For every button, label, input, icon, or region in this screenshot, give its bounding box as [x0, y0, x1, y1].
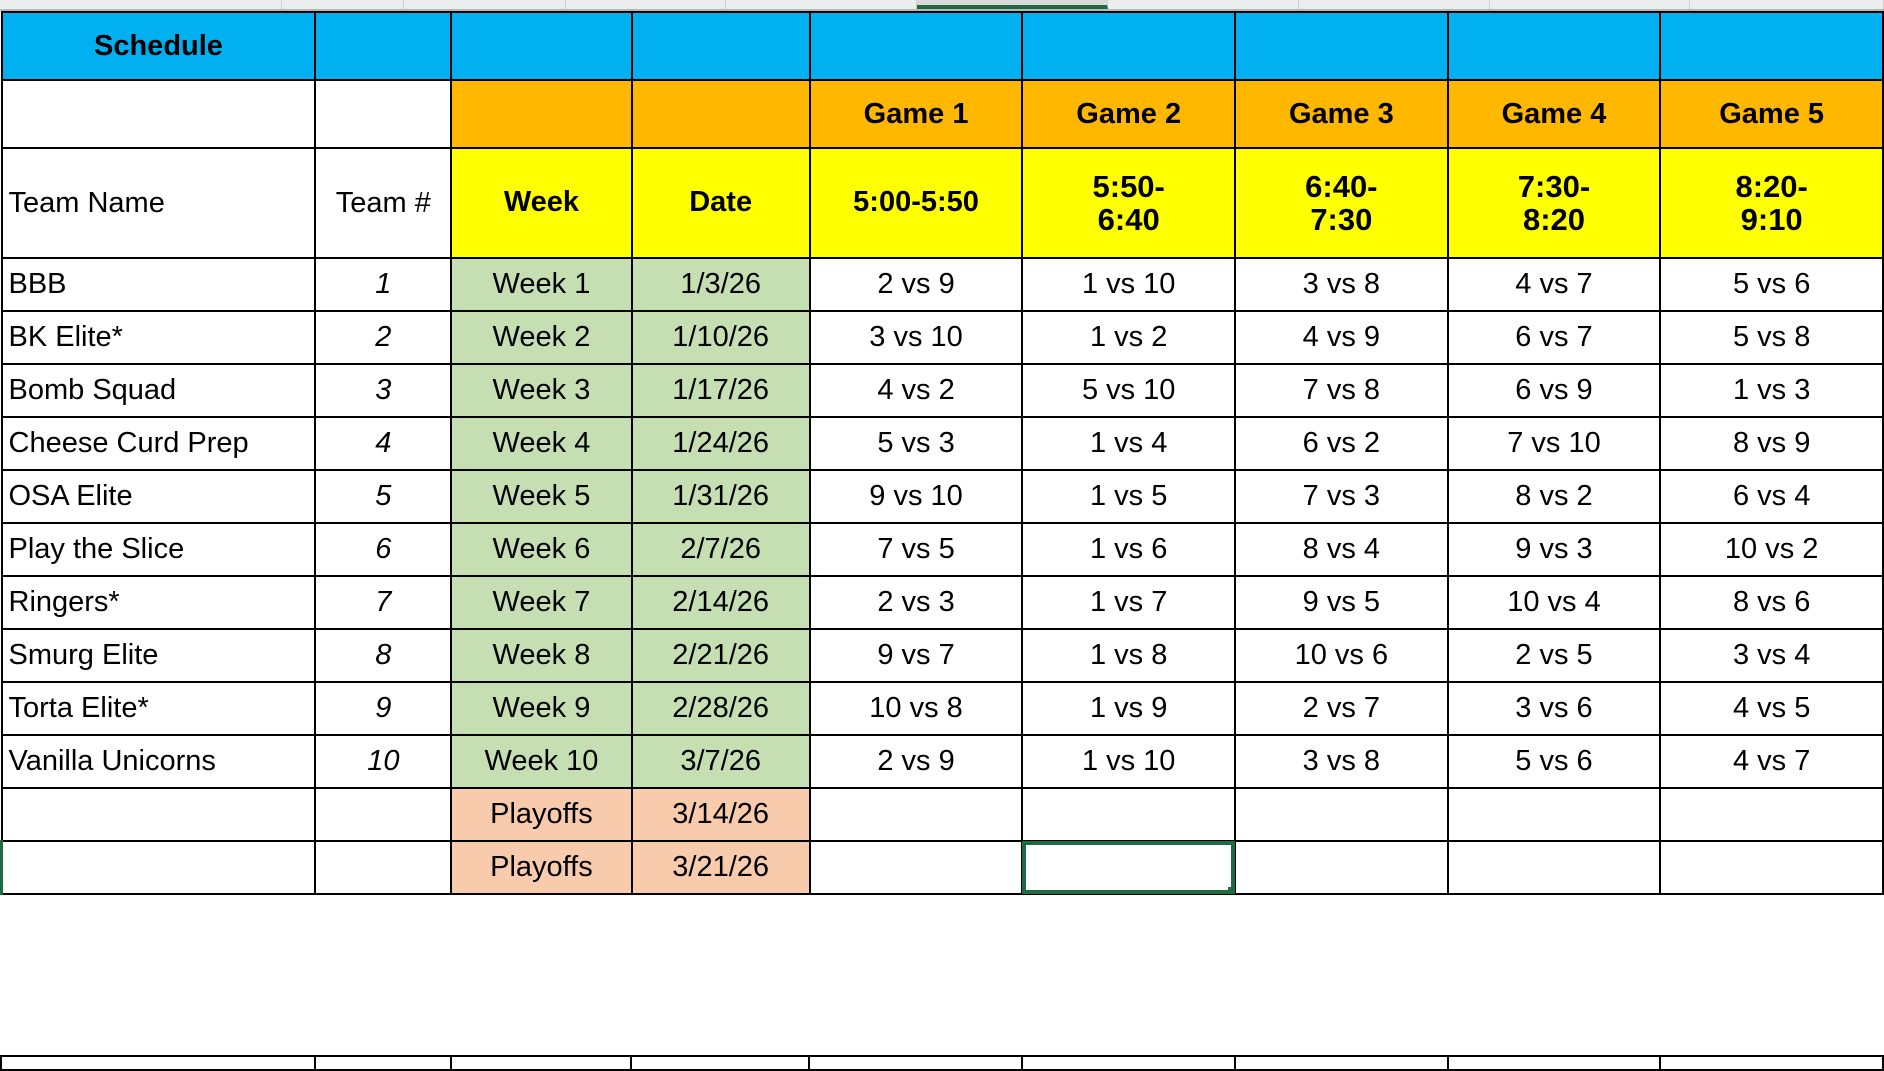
schedule-table: Schedule Game 1 Game 2 Game 3 Game 4	[0, 11, 1884, 895]
cell-matchup-game-2[interactable]: 1 vs 7	[1022, 576, 1235, 629]
cell-matchup-game-5[interactable]: 8 vs 6	[1660, 576, 1883, 629]
time-game-5-line2: 9:10	[1667, 203, 1876, 236]
game-label-blank-team-number	[315, 80, 451, 148]
game-label-5: Game 5	[1660, 80, 1883, 148]
cell-team-name[interactable]: Cheese Curd Prep	[2, 417, 316, 470]
cell-matchup-game-4[interactable]: 2 vs 5	[1448, 629, 1661, 682]
cell-playoff-week[interactable]: Playoffs	[451, 788, 631, 841]
cell-matchup-game-4[interactable]: 3 vs 6	[1448, 682, 1661, 735]
cell-team-number[interactable]	[315, 788, 451, 841]
cell-matchup-game-3[interactable]: 6 vs 2	[1235, 417, 1448, 470]
cell-matchup-game-4[interactable]: 4 vs 7	[1448, 258, 1661, 311]
cell-matchup-game-5[interactable]: 1 vs 3	[1660, 364, 1883, 417]
header-time-game-1: 5:00-5:50	[810, 148, 1023, 258]
cell-matchup-game-2[interactable]: 1 vs 10	[1022, 735, 1235, 788]
cell-team-number[interactable]: 9	[315, 682, 451, 735]
title-filler-game-5	[1660, 12, 1883, 80]
cell-matchup-game-4[interactable]: 5 vs 6	[1448, 735, 1661, 788]
cell-matchup-game-1[interactable]: 3 vs 10	[810, 311, 1023, 364]
cell-matchup-game-5[interactable]: 8 vs 9	[1660, 417, 1883, 470]
cell-matchup-game-3[interactable]: 3 vs 8	[1235, 735, 1448, 788]
cell-matchup-game-4[interactable]: 6 vs 9	[1448, 364, 1661, 417]
column-header-team-name[interactable]	[0, 0, 282, 9]
column-header-strip	[0, 0, 1884, 11]
cell-matchup-game-4[interactable]: 8 vs 2	[1448, 470, 1661, 523]
table-row: Ringers*7Week 72/14/262 vs 31 vs 79 vs 5…	[2, 576, 1884, 629]
cell-date[interactable]: 1/3/26	[632, 258, 810, 311]
column-header-team-number[interactable]	[282, 0, 404, 9]
cell-team-name[interactable]	[2, 788, 316, 841]
cell-team-number[interactable]: 2	[315, 311, 451, 364]
tail-cell-team-name[interactable]	[1, 1056, 315, 1070]
time-game-1-line1: 5:00-5:50	[817, 187, 1016, 218]
cell-matchup-game-5[interactable]	[1660, 788, 1883, 841]
cell-team-name[interactable]: Ringers*	[2, 576, 316, 629]
cell-matchup-game-3[interactable]: 10 vs 6	[1235, 629, 1448, 682]
cell-team-name[interactable]: BK Elite*	[2, 311, 316, 364]
cell-matchup-game-3[interactable]: 2 vs 7	[1235, 682, 1448, 735]
cell-matchup-game-2[interactable]: 1 vs 9	[1022, 682, 1235, 735]
cell-date[interactable]: 2/14/26	[632, 576, 810, 629]
time-game-3-line1: 6:40-	[1242, 170, 1441, 203]
cell-week[interactable]: Week 10	[451, 735, 631, 788]
header-date: Date	[632, 148, 810, 258]
cell-team-name[interactable]: Bomb Squad	[2, 364, 316, 417]
cell-date[interactable]: 1/31/26	[632, 470, 810, 523]
table-row: Playoffs3/14/26	[2, 788, 1884, 841]
cell-matchup-game-3[interactable]: 7 vs 3	[1235, 470, 1448, 523]
game-label-2: Game 2	[1022, 80, 1235, 148]
cell-team-number[interactable]	[315, 841, 451, 894]
cell-date[interactable]: 3/7/26	[632, 735, 810, 788]
cell-matchup-game-5[interactable]: 10 vs 2	[1660, 523, 1883, 576]
cell-matchup-game-3[interactable]	[1235, 841, 1448, 894]
title-filler-game-4	[1448, 12, 1661, 80]
cell-team-number[interactable]: 7	[315, 576, 451, 629]
header-time-game-2: 5:50- 6:40	[1022, 148, 1235, 258]
cell-matchup-game-3[interactable]: 3 vs 8	[1235, 258, 1448, 311]
table-header-row: Team Name Team # Week Date 5:00-5:50 5:5…	[2, 148, 1884, 258]
game-label-blank-team-name	[2, 80, 316, 148]
cell-team-name[interactable]: Torta Elite*	[2, 682, 316, 735]
cell-matchup-game-4[interactable]: 7 vs 10	[1448, 417, 1661, 470]
cell-date[interactable]: 1/10/26	[632, 311, 810, 364]
cell-matchup-game-3[interactable]	[1235, 788, 1448, 841]
cell-matchup-game-2[interactable]: 1 vs 4	[1022, 417, 1235, 470]
column-header-game-2[interactable]	[917, 0, 1108, 9]
cell-matchup-game-2[interactable]: 5 vs 10	[1022, 364, 1235, 417]
time-game-2-line2: 6:40	[1029, 203, 1228, 236]
header-week: Week	[451, 148, 631, 258]
cell-matchup-game-5[interactable]: 4 vs 7	[1660, 735, 1883, 788]
cell-matchup-game-5[interactable]: 5 vs 6	[1660, 258, 1883, 311]
cell-matchup-game-3[interactable]: 8 vs 4	[1235, 523, 1448, 576]
game-label-row: Game 1 Game 2 Game 3 Game 4 Game 5	[2, 80, 1884, 148]
cell-week[interactable]: Week 6	[451, 523, 631, 576]
title-row: Schedule	[2, 12, 1884, 80]
cell-team-number[interactable]: 6	[315, 523, 451, 576]
tail-cell-game-5[interactable]	[1660, 1056, 1883, 1070]
fill-handle[interactable]	[1228, 887, 1235, 894]
game-label-4: Game 4	[1448, 80, 1661, 148]
cell-team-name[interactable]: Vanilla Unicorns	[2, 735, 316, 788]
cell-team-number[interactable]: 4	[315, 417, 451, 470]
game-label-3: Game 3	[1235, 80, 1448, 148]
column-header-overflow[interactable]	[1690, 0, 1884, 9]
cell-matchup-game-5[interactable]	[1660, 841, 1883, 894]
title-filler-week	[451, 12, 631, 80]
cell-matchup-game-1[interactable]: 2 vs 9	[810, 258, 1023, 311]
selected-cell[interactable]	[1022, 841, 1235, 894]
table-row: Cheese Curd Prep4Week 41/24/265 vs 31 vs…	[2, 417, 1884, 470]
cell-week[interactable]: Week 7	[451, 576, 631, 629]
table-row: BBB1Week 11/3/262 vs 91 vs 103 vs 84 vs …	[2, 258, 1884, 311]
column-header-game-1[interactable]	[726, 0, 917, 9]
cell-week[interactable]: Week 8	[451, 629, 631, 682]
table-row: Torta Elite*9Week 92/28/2610 vs 81 vs 92…	[2, 682, 1884, 735]
cell-week[interactable]: Week 9	[451, 682, 631, 735]
title-filler-team-number	[315, 12, 451, 80]
table-row: Playoffs3/21/26	[2, 841, 1884, 894]
cell-week[interactable]: Week 4	[451, 417, 631, 470]
cell-team-name[interactable]	[2, 841, 316, 894]
cell-matchup-game-1[interactable]: 10 vs 8	[810, 682, 1023, 735]
header-time-game-3: 6:40- 7:30	[1235, 148, 1448, 258]
cell-matchup-game-1[interactable]	[810, 841, 1023, 894]
cell-team-name[interactable]: BBB	[2, 258, 316, 311]
cell-matchup-game-1[interactable]	[810, 788, 1023, 841]
tail-cell-team-number[interactable]	[315, 1056, 451, 1070]
column-header-game-5[interactable]	[1490, 0, 1690, 9]
cell-team-name[interactable]: Smurg Elite	[2, 629, 316, 682]
cell-date[interactable]: 3/21/26	[632, 841, 810, 894]
time-game-5-line1: 8:20-	[1667, 170, 1876, 203]
cell-date[interactable]: 1/24/26	[632, 417, 810, 470]
time-game-2-line1: 5:50-	[1029, 170, 1228, 203]
cell-team-number[interactable]: 1	[315, 258, 451, 311]
column-header-game-3[interactable]	[1108, 0, 1299, 9]
tail-cell-game-4[interactable]	[1448, 1056, 1661, 1070]
cell-matchup-game-1[interactable]: 2 vs 3	[810, 576, 1023, 629]
page-title: Schedule	[2, 12, 316, 80]
cell-matchup-game-2[interactable]: 1 vs 5	[1022, 470, 1235, 523]
time-game-4-line1: 7:30-	[1455, 170, 1654, 203]
column-header-date[interactable]	[566, 0, 726, 9]
tail-cell-game-2[interactable]	[1022, 1056, 1235, 1070]
column-header-week[interactable]	[404, 0, 566, 9]
tail-cell-game-1[interactable]	[809, 1056, 1022, 1070]
header-team-name: Team Name	[2, 148, 316, 258]
spreadsheet-sheet: Schedule Game 1 Game 2 Game 3 Game 4	[0, 0, 1884, 1071]
cell-team-number[interactable]: 5	[315, 470, 451, 523]
header-time-game-4: 7:30- 8:20	[1448, 148, 1661, 258]
cell-matchup-game-1[interactable]: 9 vs 10	[810, 470, 1023, 523]
cell-date[interactable]: 2/21/26	[632, 629, 810, 682]
table-row: Play the Slice6Week 62/7/267 vs 51 vs 68…	[2, 523, 1884, 576]
schedule-table-tail	[0, 1055, 1884, 1071]
title-filler-game-3	[1235, 12, 1448, 80]
title-filler-game-1	[810, 12, 1023, 80]
cell-matchup-game-3[interactable]: 4 vs 9	[1235, 311, 1448, 364]
column-header-game-4[interactable]	[1299, 0, 1490, 9]
cell-matchup-game-2[interactable]: 1 vs 2	[1022, 311, 1235, 364]
cell-date[interactable]: 1/17/26	[632, 364, 810, 417]
cell-matchup-game-1[interactable]: 7 vs 5	[810, 523, 1023, 576]
cell-team-number[interactable]: 8	[315, 629, 451, 682]
table-row: BK Elite*2Week 21/10/263 vs 101 vs 24 vs…	[2, 311, 1884, 364]
cell-matchup-game-4[interactable]: 10 vs 4	[1448, 576, 1661, 629]
cell-matchup-game-2[interactable]: 1 vs 10	[1022, 258, 1235, 311]
cell-week[interactable]: Week 5	[451, 470, 631, 523]
tail-cell-week[interactable]	[451, 1056, 631, 1070]
header-team-number: Team #	[315, 148, 451, 258]
cell-matchup-game-4[interactable]: 6 vs 7	[1448, 311, 1661, 364]
title-filler-game-2	[1022, 12, 1235, 80]
game-label-blank-week	[451, 80, 631, 148]
cell-matchup-game-2[interactable]: 1 vs 8	[1022, 629, 1235, 682]
cell-team-number[interactable]: 3	[315, 364, 451, 417]
cell-week[interactable]: Week 2	[451, 311, 631, 364]
tail-cell-date[interactable]	[631, 1056, 809, 1070]
cell-date[interactable]: 3/14/26	[632, 788, 810, 841]
game-label-1: Game 1	[810, 80, 1023, 148]
cell-playoff-week[interactable]: Playoffs	[451, 841, 631, 894]
cell-matchup-game-3[interactable]: 9 vs 5	[1235, 576, 1448, 629]
cell-matchup-game-5[interactable]: 5 vs 8	[1660, 311, 1883, 364]
cell-week[interactable]: Week 3	[451, 364, 631, 417]
table-row: Vanilla Unicorns10Week 103/7/262 vs 91 v…	[2, 735, 1884, 788]
cell-matchup-game-2[interactable]	[1022, 788, 1235, 841]
table-row: Bomb Squad3Week 31/17/264 vs 25 vs 107 v…	[2, 364, 1884, 417]
cell-team-name[interactable]: Play the Slice	[2, 523, 316, 576]
cell-matchup-game-2[interactable]: 1 vs 6	[1022, 523, 1235, 576]
time-game-4-line2: 8:20	[1455, 203, 1654, 236]
cell-team-number[interactable]: 10	[315, 735, 451, 788]
table-row: Smurg Elite8Week 82/21/269 vs 71 vs 810 …	[2, 629, 1884, 682]
cell-date[interactable]: 2/28/26	[632, 682, 810, 735]
cell-matchup-game-5[interactable]: 4 vs 5	[1660, 682, 1883, 735]
time-game-3-line2: 7:30	[1242, 203, 1441, 236]
cell-date[interactable]: 2/7/26	[632, 523, 810, 576]
cell-matchup-game-1[interactable]: 9 vs 7	[810, 629, 1023, 682]
tail-cell-game-3[interactable]	[1235, 1056, 1448, 1070]
cell-matchup-game-5[interactable]: 3 vs 4	[1660, 629, 1883, 682]
cell-matchup-game-1[interactable]: 5 vs 3	[810, 417, 1023, 470]
header-time-game-5: 8:20- 9:10	[1660, 148, 1883, 258]
cell-matchup-game-1[interactable]: 2 vs 9	[810, 735, 1023, 788]
cell-matchup-game-4[interactable]	[1448, 841, 1661, 894]
cell-matchup-game-4[interactable]	[1448, 788, 1661, 841]
cell-team-name[interactable]: OSA Elite	[2, 470, 316, 523]
cell-matchup-game-1[interactable]: 4 vs 2	[810, 364, 1023, 417]
cell-week[interactable]: Week 1	[451, 258, 631, 311]
game-label-blank-date	[632, 80, 810, 148]
cell-matchup-game-5[interactable]: 6 vs 4	[1660, 470, 1883, 523]
table-row: OSA Elite5Week 51/31/269 vs 101 vs 57 vs…	[2, 470, 1884, 523]
title-filler-date	[632, 12, 810, 80]
cell-matchup-game-3[interactable]: 7 vs 8	[1235, 364, 1448, 417]
table-tail-row	[1, 1056, 1883, 1070]
cell-matchup-game-4[interactable]: 9 vs 3	[1448, 523, 1661, 576]
